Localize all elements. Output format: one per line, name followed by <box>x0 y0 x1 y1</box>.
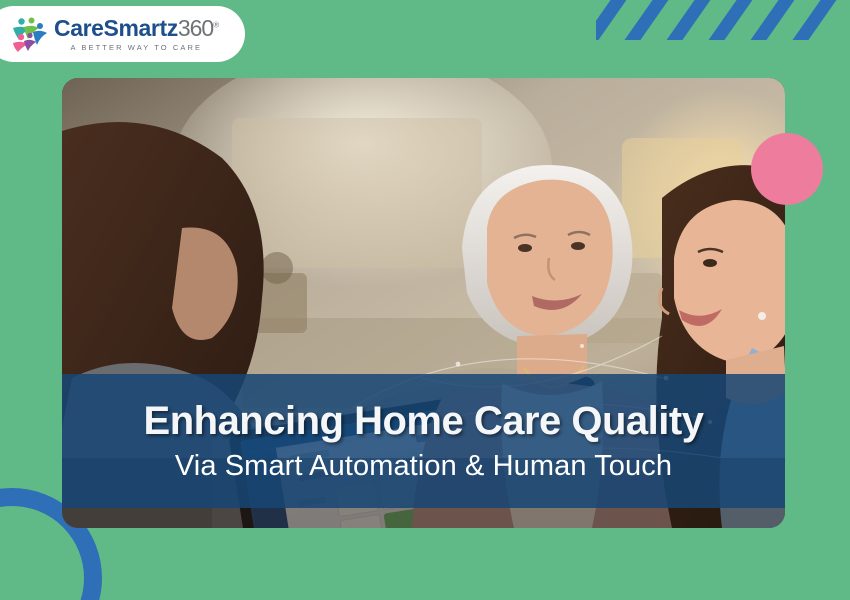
stripe-4 <box>706 0 756 40</box>
hero-photo-card: Enhancing Home Care Quality Via Smart Au… <box>62 78 785 528</box>
hero-banner: Enhancing Home Care Quality Via Smart Au… <box>62 374 785 508</box>
stripe-2 <box>622 0 672 40</box>
hero-headline: Enhancing Home Care Quality <box>144 400 704 442</box>
stripe-6 <box>790 0 840 40</box>
stripe-5 <box>748 0 798 40</box>
hero-subheadline: Via Smart Automation & Human Touch <box>175 451 672 483</box>
brand-name-smartz: Smartz <box>104 15 178 41</box>
brand-name-360: 360 <box>178 15 213 41</box>
brand-logo[interactable]: CareSmartz360® A BETTER WAY TO CARE <box>0 6 245 62</box>
brand-name-care: Care <box>54 15 104 41</box>
stripe-1 <box>596 0 629 40</box>
brand-tagline: A BETTER WAY TO CARE <box>71 43 203 52</box>
registered-trademark-icon: ® <box>213 20 219 29</box>
brand-wordmark: CareSmartz360® <box>54 17 219 40</box>
diagonal-stripes <box>596 0 850 40</box>
caresmartz-people-logo-icon <box>10 16 50 52</box>
slide-canvas: Enhancing Home Care Quality Via Smart Au… <box>0 0 850 600</box>
pink-circle <box>751 133 823 205</box>
stripe-3 <box>664 0 714 40</box>
